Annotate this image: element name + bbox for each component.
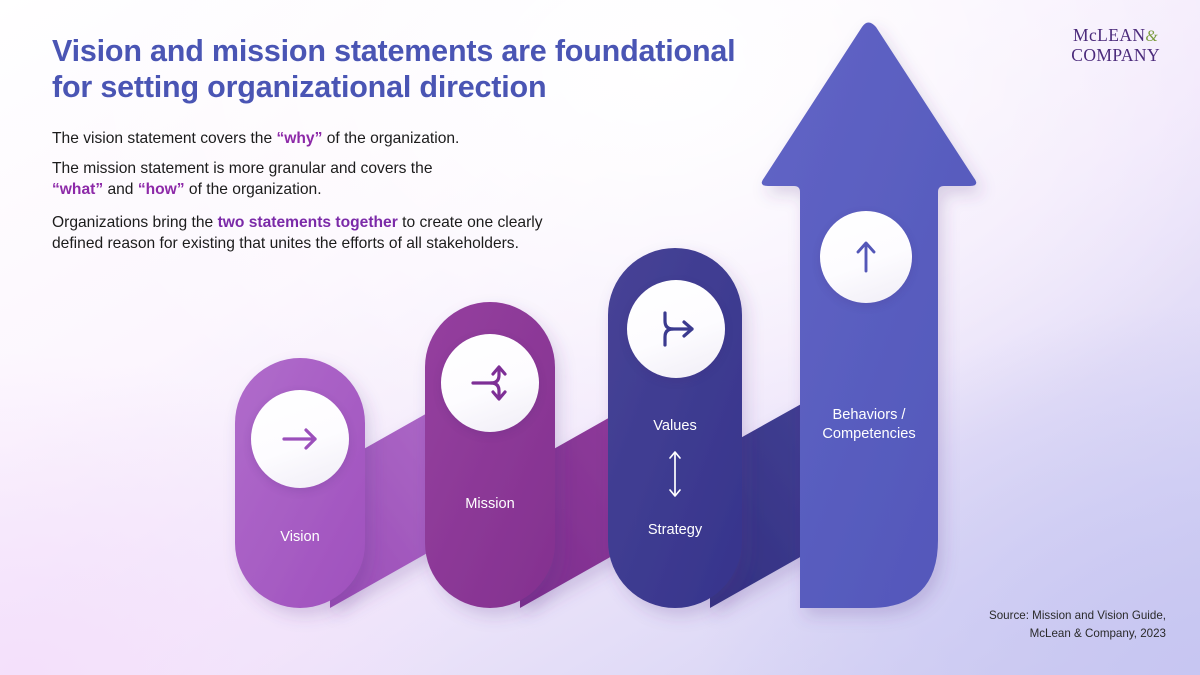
title-line-2: for setting organizational direction [52,70,546,104]
merge-arrow-icon [650,303,702,355]
arrow-right-icon [274,413,326,465]
logo-mclean-text: McLEAN [1073,25,1145,45]
double-arrow-vertical-icon [660,446,690,502]
bubble-behaviors [820,211,912,303]
p1-highlight-why: “why” [276,130,322,147]
pill-label-values: Values [608,417,742,436]
p2-text-mid: and [103,181,138,198]
paragraph-mission: The mission statement is more granular a… [52,158,552,200]
paragraph-vision: The vision statement covers the “why” of… [52,128,552,149]
behaviors-line-1: Behaviors / [832,407,905,423]
behaviors-line-2: Competencies [822,426,915,442]
logo-line-2: COMPANY [1071,46,1160,64]
p1-text-a: The vision statement covers the [52,130,276,147]
page-title: Vision and mission statements are founda… [52,34,832,106]
bubble-vision [251,390,349,488]
title-line-1: Vision and mission statements are founda… [52,34,735,68]
source-line-1: Source: Mission and Vision Guide, [989,609,1166,622]
logo-ampersand: & [1145,28,1158,45]
logo-line-1: McLEAN& [1071,26,1160,46]
pill-label-mission: Mission [425,495,555,514]
p3-text-a: Organizations bring the [52,214,218,231]
pill-label-vision: Vision [235,528,365,547]
bubble-mission [441,334,539,432]
p1-text-b: of the organization. [322,130,459,147]
p2-text-a: The mission statement is more granular a… [52,160,433,177]
pill-label-strategy: Strategy [608,521,742,540]
bubble-values [627,280,725,378]
paragraph-together: Organizations bring the two statements t… [52,212,552,254]
arrow-up-icon [842,233,890,281]
slide-canvas: Vision Mission Values Strategy Behaviors… [0,0,1200,675]
mclean-company-logo: McLEAN& COMPANY [1071,26,1160,64]
source-note: Source: Mission and Vision Guide, McLean… [989,607,1166,642]
p2-text-b: of the organization. [185,181,322,198]
source-line-2: McLean & Company, 2023 [1030,627,1166,640]
split-arrow-icon [464,357,516,409]
p2-highlight-what: “what” [52,181,103,198]
pill-label-behaviors: Behaviors / Competencies [800,406,938,443]
p3-highlight-two-statements: two statements together [218,214,398,231]
p2-highlight-how: “how” [138,181,185,198]
